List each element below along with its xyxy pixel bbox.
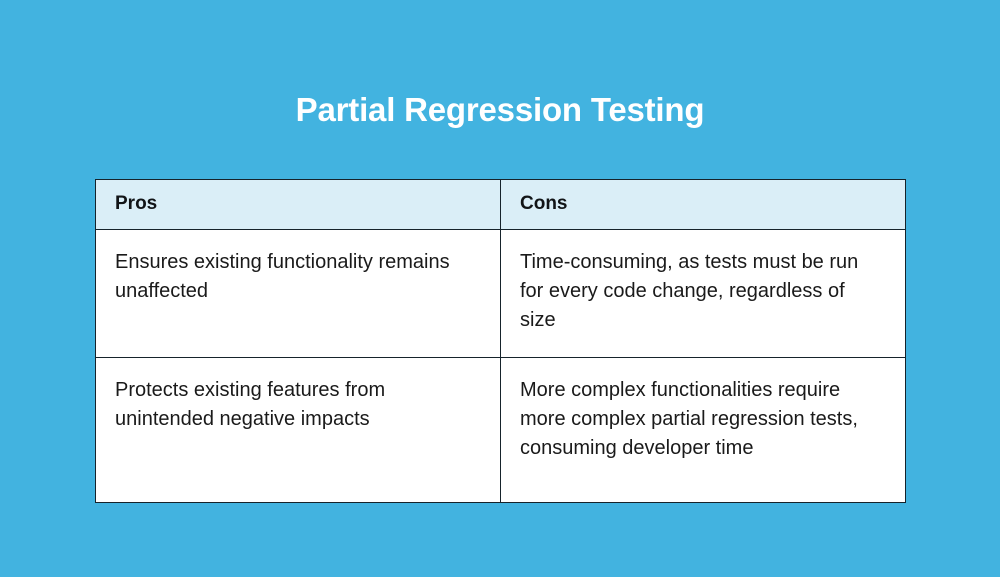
cons-cell: Time-consuming, as tests must be run for… [501, 230, 906, 358]
pros-cell: Protects existing features from unintend… [96, 358, 501, 503]
slide-canvas: Partial Regression Testing Pros Cons Ens… [0, 0, 1000, 577]
table-row: Ensures existing functionality remains u… [96, 230, 906, 358]
table-row: Protects existing features from unintend… [96, 358, 906, 503]
pros-cons-table: Pros Cons Ensures existing functionality… [95, 179, 906, 503]
column-header-pros: Pros [96, 180, 501, 230]
table-header-row: Pros Cons [96, 180, 906, 230]
pros-cell: Ensures existing functionality remains u… [96, 230, 501, 358]
table-header: Pros Cons [96, 180, 906, 230]
column-header-cons: Cons [501, 180, 906, 230]
table-body: Ensures existing functionality remains u… [96, 230, 906, 503]
pros-cons-table-container: Pros Cons Ensures existing functionality… [95, 179, 905, 503]
cons-cell: More complex functionalities require mor… [501, 358, 906, 503]
page-title: Partial Regression Testing [0, 88, 1000, 132]
